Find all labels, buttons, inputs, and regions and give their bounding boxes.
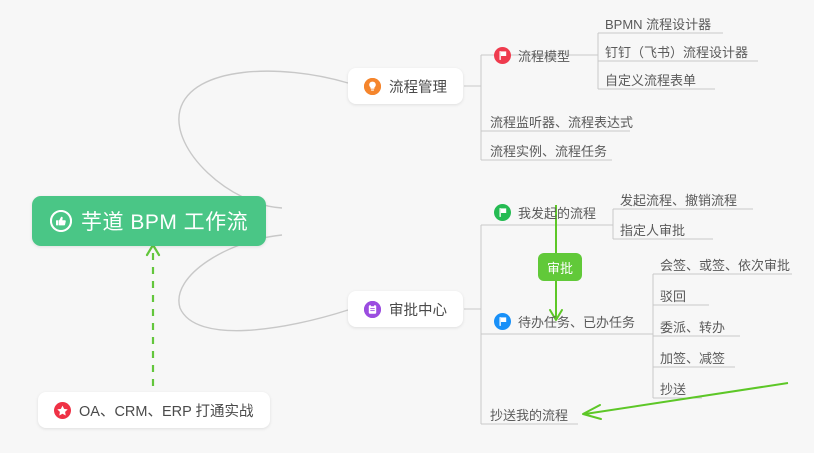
node-label: 抄送: [660, 379, 686, 398]
branch-node-approval-center[interactable]: 审批中心: [348, 291, 463, 327]
node-start-cancel-process[interactable]: 发起流程、撤销流程: [616, 186, 742, 213]
thumbs-up-icon: [50, 210, 72, 232]
star-icon: [54, 402, 71, 419]
node-dingtalk-designer[interactable]: 钉钉（飞书）流程设计器: [601, 38, 753, 65]
node-label: 流程模型: [518, 46, 570, 65]
node-label: 会签、或签、依次审批: [660, 255, 790, 274]
mindmap-canvas: 芋道 BPM 工作流 流程管理 流程模型 BPMN 流程设计器 钉钉（飞书）流程…: [0, 0, 814, 453]
node-process-listener[interactable]: 流程监听器、流程表达式: [486, 108, 638, 135]
tag-label: 审批: [547, 258, 573, 277]
node-custom-form[interactable]: 自定义流程表单: [601, 66, 701, 93]
node-label: 流程监听器、流程表达式: [490, 112, 633, 131]
node-my-initiated-process[interactable]: 我发起的流程: [490, 199, 601, 226]
node-process-model[interactable]: 流程模型: [490, 42, 575, 69]
node-label: 委派、转办: [660, 317, 725, 336]
node-label: 我发起的流程: [518, 203, 596, 222]
clipboard-icon: [364, 301, 381, 318]
node-assigned-approver[interactable]: 指定人审批: [616, 216, 690, 243]
node-delegate-transfer[interactable]: 委派、转办: [656, 313, 730, 340]
root-node[interactable]: 芋道 BPM 工作流: [32, 196, 266, 246]
node-cc-to-me[interactable]: 抄送我的流程: [486, 401, 573, 428]
node-label: 发起流程、撤销流程: [620, 190, 737, 209]
branch-label: 流程管理: [389, 76, 447, 97]
node-add-remove-sign[interactable]: 加签、减签: [656, 344, 730, 371]
branch-label: 审批中心: [389, 299, 447, 320]
node-label: 指定人审批: [620, 220, 685, 239]
node-bpmn-designer[interactable]: BPMN 流程设计器: [601, 10, 716, 37]
node-label: 抄送我的流程: [490, 405, 568, 424]
flag-icon: [494, 204, 511, 221]
root-label: 芋道 BPM 工作流: [81, 206, 248, 236]
node-label: 加签、减签: [660, 348, 725, 367]
note-node-integration[interactable]: OA、CRM、ERP 打通实战: [38, 392, 270, 428]
lightbulb-icon: [364, 78, 381, 95]
node-reject[interactable]: 驳回: [656, 282, 691, 309]
node-label: 驳回: [660, 286, 686, 305]
flag-icon: [494, 47, 511, 64]
node-process-instance[interactable]: 流程实例、流程任务: [486, 137, 612, 164]
node-label: 钉钉（飞书）流程设计器: [605, 42, 748, 61]
approval-tag-badge[interactable]: 审批: [538, 253, 582, 281]
note-label: OA、CRM、ERP 打通实战: [79, 400, 254, 421]
node-label: BPMN 流程设计器: [605, 14, 711, 33]
node-label: 待办任务、已办任务: [518, 312, 635, 331]
branch-node-process-management[interactable]: 流程管理: [348, 68, 463, 104]
node-label: 流程实例、流程任务: [490, 141, 607, 160]
flag-icon: [494, 313, 511, 330]
node-countersign[interactable]: 会签、或签、依次审批: [656, 251, 795, 278]
node-label: 自定义流程表单: [605, 70, 696, 89]
node-cc[interactable]: 抄送: [656, 375, 691, 402]
node-todo-done-tasks[interactable]: 待办任务、已办任务: [490, 308, 640, 335]
